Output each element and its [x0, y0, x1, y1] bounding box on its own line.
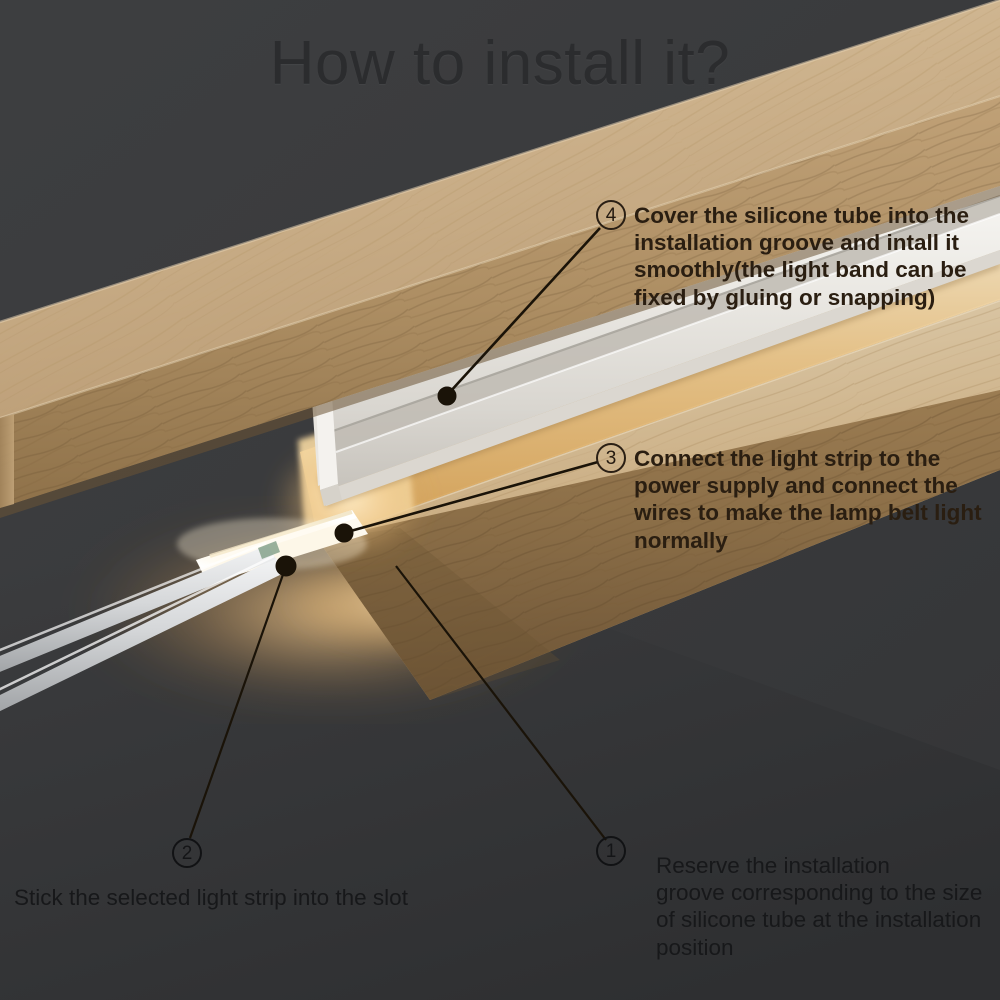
- step-number-badge-1: 1: [596, 836, 626, 866]
- step-number-badge-4: 4: [596, 200, 626, 230]
- callout-step-3: 3 Connect the light strip to the power s…: [596, 443, 982, 554]
- leader-dot-4: [438, 387, 456, 405]
- leader-dot-3: [335, 524, 353, 542]
- install-instruction-image: How to install it? 4 Cover the silicone …: [0, 0, 1000, 1000]
- leader-dot-2: [276, 556, 296, 576]
- page-title: How to install it?: [0, 28, 1000, 99]
- step-number-badge-2: 2: [172, 838, 202, 868]
- callout-step-2: 2 Stick the selected light strip into th…: [172, 838, 408, 911]
- step-text-4: Cover the silicone tube into the install…: [634, 200, 969, 311]
- step-text-2: Stick the selected light strip into the …: [14, 882, 408, 911]
- step-text-3: Connect the light strip to the power sup…: [634, 443, 982, 554]
- step-text-1: Reserve the installation groove correspo…: [656, 836, 982, 961]
- callout-step-4: 4 Cover the silicone tube into the insta…: [596, 200, 969, 311]
- callout-step-1: 1 Reserve the installation groove corres…: [596, 836, 982, 961]
- step-number-badge-3: 3: [596, 443, 626, 473]
